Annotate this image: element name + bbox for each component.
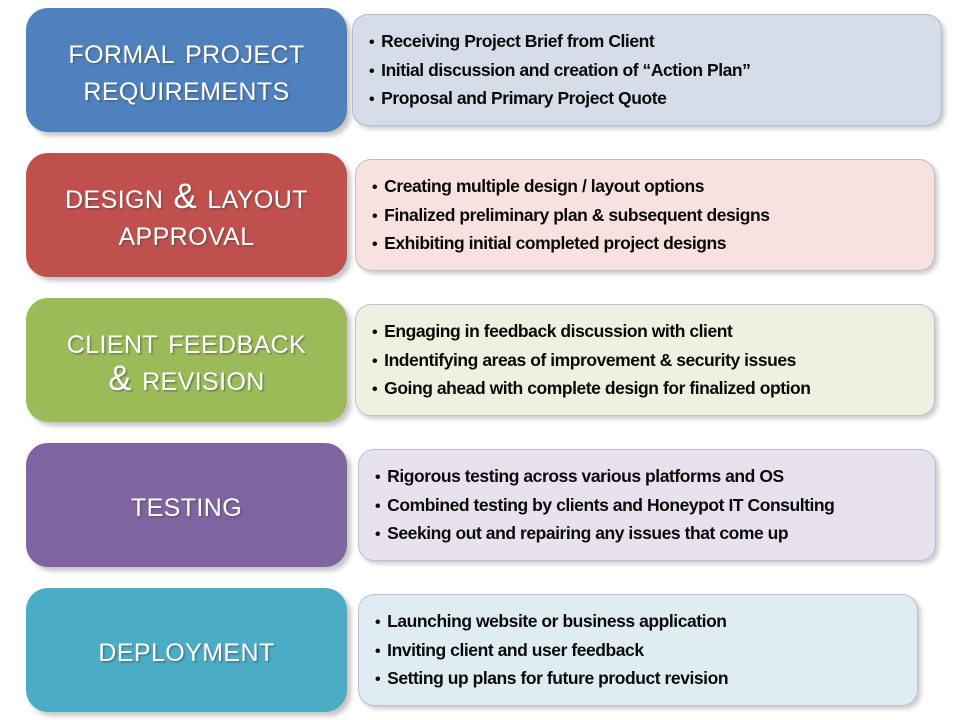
bullet-text: Creating multiple design / layout option… — [384, 172, 920, 200]
bullet-icon: • — [375, 615, 380, 631]
list-item: • Launching website or business applicat… — [375, 607, 903, 635]
detail-panel-client-feedback-revision: • Engaging in feedback discussion with c… — [355, 304, 935, 416]
bullet-icon: • — [372, 209, 377, 225]
bullet-icon: • — [372, 382, 377, 398]
bullet-icon: • — [372, 354, 377, 370]
bullet-text: Finalized preliminary plan & subsequent … — [384, 201, 920, 229]
list-item: • Going ahead with complete design for f… — [372, 374, 920, 402]
list-item: • Proposal and Primary Project Quote — [369, 84, 927, 112]
bullet-icon: • — [375, 672, 380, 688]
bullet-text: Launching website or business applicatio… — [387, 607, 903, 635]
stage-title: Design & Layout Approval — [65, 178, 308, 252]
stage-box-formal-project-requirements[interactable]: Formal Project Requirements — [26, 8, 347, 132]
bullet-icon: • — [375, 499, 380, 515]
list-item: • Engaging in feedback discussion with c… — [372, 317, 920, 345]
process-flow-diagram: Formal Project Requirements • Receiving … — [0, 0, 960, 720]
bullet-text: Indentifying areas of improvement & secu… — [384, 346, 920, 374]
bullet-text: Receiving Project Brief from Client — [381, 27, 927, 55]
list-item: • Rigorous testing across various platfo… — [375, 462, 921, 490]
detail-panel-design-layout-approval: • Creating multiple design / layout opti… — [355, 159, 935, 271]
bullet-text: Combined testing by clients and Honeypot… — [387, 491, 921, 519]
bullet-text: Initial discussion and creation of “Acti… — [381, 56, 927, 84]
bullet-text: Inviting client and user feedback — [387, 636, 903, 664]
list-item: • Initial discussion and creation of “Ac… — [369, 56, 927, 84]
bullet-icon: • — [375, 527, 380, 543]
stage-box-design-layout-approval[interactable]: Design & Layout Approval — [26, 153, 347, 277]
process-row: Testing • Rigorous testing across variou… — [0, 435, 960, 575]
detail-panel-testing: • Rigorous testing across various platfo… — [358, 449, 936, 561]
bullet-icon: • — [369, 35, 374, 51]
bullet-icon: • — [375, 470, 380, 486]
detail-panel-formal-project-requirements: • Receiving Project Brief from Client • … — [352, 14, 942, 126]
bullet-text: Exhibiting initial completed project des… — [384, 229, 920, 257]
stage-title: Client Feedback & Revision — [67, 323, 306, 397]
process-row: Formal Project Requirements • Receiving … — [0, 0, 960, 140]
process-row: Deployment • Launching website or busine… — [0, 580, 960, 720]
detail-panel-deployment: • Launching website or business applicat… — [358, 594, 918, 706]
bullet-icon: • — [372, 237, 377, 253]
bullet-text: Rigorous testing across various platform… — [387, 462, 921, 490]
list-item: • Creating multiple design / layout opti… — [372, 172, 920, 200]
list-item: • Finalized preliminary plan & subsequen… — [372, 201, 920, 229]
process-row: Design & Layout Approval • Creating mult… — [0, 145, 960, 285]
process-row: Client Feedback & Revision • Engaging in… — [0, 290, 960, 430]
bullet-text: Going ahead with complete design for fin… — [384, 374, 920, 402]
list-item: • Receiving Project Brief from Client — [369, 27, 927, 55]
bullet-icon: • — [372, 325, 377, 341]
bullet-text: Engaging in feedback discussion with cli… — [384, 317, 920, 345]
bullet-text: Proposal and Primary Project Quote — [381, 84, 927, 112]
stage-box-client-feedback-revision[interactable]: Client Feedback & Revision — [26, 298, 347, 422]
list-item: • Combined testing by clients and Honeyp… — [375, 491, 921, 519]
stage-box-testing[interactable]: Testing — [26, 443, 347, 567]
list-item: • Inviting client and user feedback — [375, 636, 903, 664]
stage-title: Testing — [131, 486, 242, 523]
bullet-icon: • — [375, 644, 380, 660]
bullet-icon: • — [372, 180, 377, 196]
bullet-icon: • — [369, 92, 374, 108]
bullet-text: Seeking out and repairing any issues tha… — [387, 519, 921, 547]
stage-box-deployment[interactable]: Deployment — [26, 588, 347, 712]
stage-title: Formal Project Requirements — [68, 33, 304, 107]
list-item: • Indentifying areas of improvement & se… — [372, 346, 920, 374]
list-item: • Setting up plans for future product re… — [375, 664, 903, 692]
bullet-text: Setting up plans for future product revi… — [387, 664, 903, 692]
bullet-icon: • — [369, 64, 374, 80]
list-item: • Exhibiting initial completed project d… — [372, 229, 920, 257]
stage-title: Deployment — [98, 631, 274, 668]
list-item: • Seeking out and repairing any issues t… — [375, 519, 921, 547]
